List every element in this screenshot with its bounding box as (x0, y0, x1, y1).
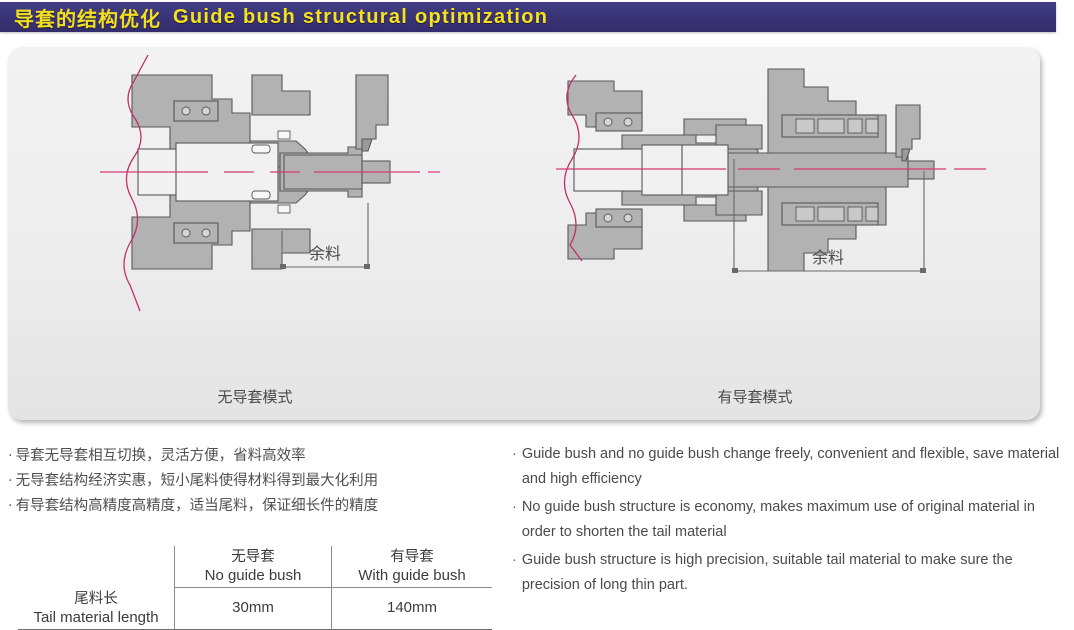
bullet-list-cn: ·导套无导套相互切换，灵活方便，省料高效率 ·无导套结构经济实惠，短小尾料使得材… (8, 444, 478, 519)
caption-no-guide-bush: 无导套模式 (125, 386, 385, 407)
bullet-item-cn: ·有导套结构高精度高精度，适当尾料，保证细长件的精度 (8, 494, 478, 519)
header-title-en: Guide bush structural optimization (161, 6, 548, 29)
bullet-text-cn: 无导套结构经济实惠，短小尾料使得材料得到最大化利用 (16, 473, 379, 489)
bullet-marker: · (8, 448, 13, 464)
table-cell-value-no-guide-bush: 30mm (175, 588, 332, 630)
bullet-marker: · (512, 442, 517, 492)
diagram-panel: 余料 (8, 47, 1040, 420)
table-header-with-guide-bush-en: With guide bush (336, 566, 488, 585)
comparison-table: 无导套 No guide bush 有导套 With guide bush 尾料… (18, 546, 492, 630)
bullet-text-cn: 有导套结构高精度高精度，适当尾料，保证细长件的精度 (16, 498, 379, 514)
table-row: 尾料长 Tail material length 30mm 140mm (18, 588, 492, 630)
bullet-marker: · (8, 473, 13, 489)
header-title-cn: 导套的结构优化 (0, 3, 161, 32)
bullet-item-en: · Guide bush structure is high precision… (512, 548, 1068, 598)
diagram-with-guide-bush: 余料 (556, 53, 986, 343)
table-row-label-cn: 尾料长 (22, 590, 170, 608)
table-cell-value-with-guide-bush: 140mm (332, 588, 493, 630)
table-cell-corner (18, 546, 175, 588)
diagram-no-guide-bush-svg: 余料 (100, 53, 440, 343)
bullet-text-en: Guide bush structure is high precision, … (522, 548, 1068, 598)
bullet-marker: · (8, 498, 13, 514)
table-row-label-en: Tail material length (22, 608, 170, 627)
slide-header: 导套的结构优化 Guide bush structural optimizati… (0, 2, 1056, 32)
diagram-with-guide-bush-svg: 余料 (556, 53, 986, 343)
dimension-label-right: 余料 (812, 248, 844, 267)
bullet-text-en: Guide bush and no guide bush change free… (522, 442, 1068, 492)
bullet-item-cn: ·无导套结构经济实惠，短小尾料使得材料得到最大化利用 (8, 469, 478, 494)
bullet-item-cn: ·导套无导套相互切换，灵活方便，省料高效率 (8, 444, 478, 469)
bullet-item-en: · No guide bush structure is economy, ma… (512, 495, 1068, 545)
table-header-with-guide-bush: 有导套 With guide bush (332, 546, 493, 588)
table-header-with-guide-bush-cn: 有导套 (336, 548, 488, 566)
table-header-no-guide-bush-en: No guide bush (179, 566, 327, 585)
table-header-no-guide-bush: 无导套 No guide bush (175, 546, 332, 588)
table-header-no-guide-bush-cn: 无导套 (179, 548, 327, 566)
diagram-no-guide-bush: 余料 (100, 53, 440, 343)
bullet-item-en: · Guide bush and no guide bush change fr… (512, 442, 1068, 492)
bullet-marker: · (512, 548, 517, 598)
bullet-list-en: · Guide bush and no guide bush change fr… (512, 442, 1068, 601)
table-row-label: 尾料长 Tail material length (18, 588, 175, 630)
bullet-text-cn: 导套无导套相互切换，灵活方便，省料高效率 (16, 448, 306, 464)
bullet-marker: · (512, 495, 517, 545)
dimension-label-left: 余料 (309, 244, 341, 263)
caption-with-guide-bush: 有导套模式 (625, 386, 885, 407)
table-row-header: 无导套 No guide bush 有导套 With guide bush (18, 546, 492, 588)
bullet-text-en: No guide bush structure is economy, make… (522, 495, 1068, 545)
